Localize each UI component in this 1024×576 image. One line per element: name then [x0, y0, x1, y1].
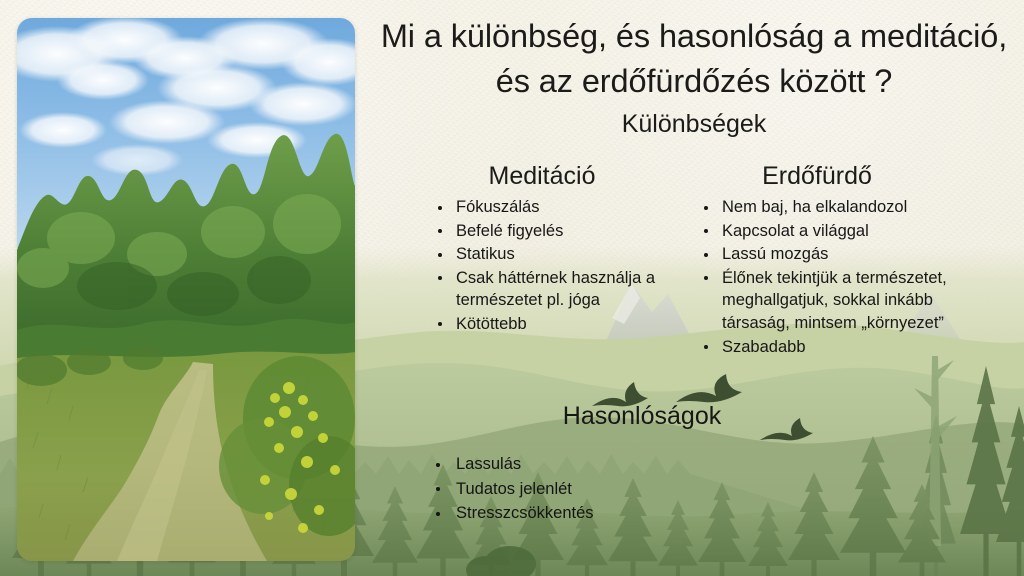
list-item: Kapcsolat a világgal [700, 220, 990, 243]
list-item: Nem baj, ha elkalandozol [700, 196, 990, 219]
list-item: Szabadabb [700, 336, 990, 359]
list-item: Lassulás [428, 452, 758, 477]
column-forest-bathing: Erdőfürdő Nem baj, ha elkalandozol Kapcs… [690, 160, 990, 359]
section-heading-similarities: Hasonlóságok [372, 400, 912, 432]
bullet-list-meditation: Fókuszálás Befelé figyelés Statikus Csak… [434, 196, 690, 336]
list-item: Statikus [434, 243, 690, 266]
column-heading-forest-bathing: Erdőfürdő [690, 160, 990, 192]
column-meditation: Meditáció Fókuszálás Befelé figyelés Sta… [400, 160, 690, 337]
list-item: Fókuszálás [434, 196, 690, 219]
page-title: Mi a különbség, és hasonlóság a meditáci… [372, 14, 1016, 104]
list-item: Lassú mozgás [700, 243, 990, 266]
list-item: Élőnek tekintjük a természetet, meghallg… [700, 267, 990, 335]
bullet-list-similarities: Lassulás Tudatos jelenlét Stresszcsökken… [428, 452, 758, 526]
slide-canvas: Mi a különbség, és hasonlóság a meditáci… [0, 0, 1024, 576]
section-subtitle-differences: Különbségek [372, 108, 1016, 140]
bullet-list-forest-bathing: Nem baj, ha elkalandozol Kapcsolat a vil… [700, 196, 990, 358]
list-item: Kötöttebb [434, 313, 690, 336]
list-item: Tudatos jelenlét [428, 477, 758, 502]
forest-meadow-path-photo [17, 18, 355, 561]
list-item: Stresszcsökkentés [428, 501, 758, 526]
list-item: Csak háttérnek használja a természetet p… [434, 267, 690, 312]
column-heading-meditation: Meditáció [400, 160, 690, 192]
list-item: Befelé figyelés [434, 220, 690, 243]
